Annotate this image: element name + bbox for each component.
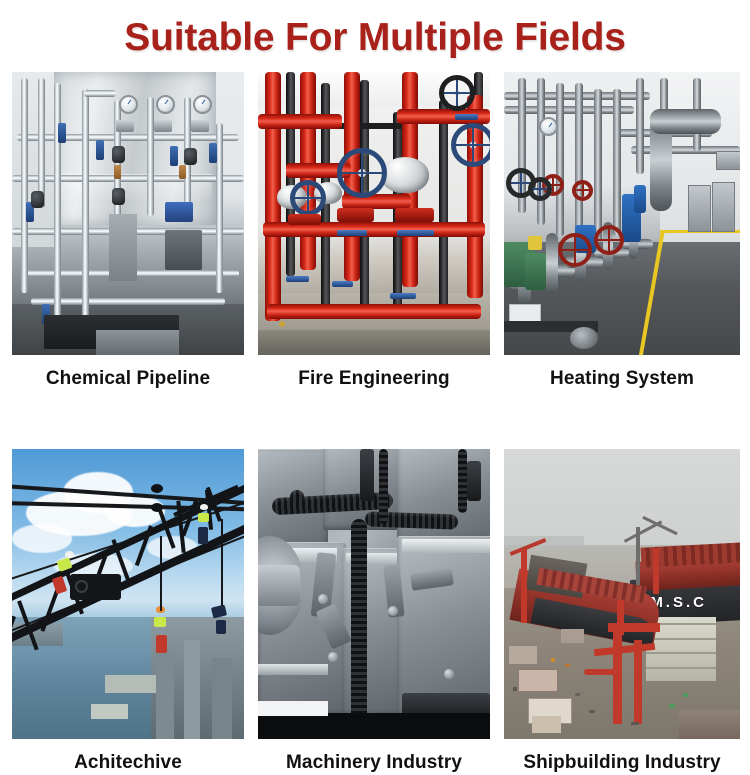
promo-banner: Suitable For Multiple Fields: [0, 0, 750, 750]
caption-shipbuilding-industry: Shipbuilding Industry: [504, 751, 740, 775]
caption-achitechive: Achitechive: [12, 751, 244, 775]
worker: [200, 504, 208, 510]
pressure-gauge-icon: [156, 95, 175, 114]
fire-engineering-illustration: [258, 72, 490, 355]
machinery-illustration: [258, 449, 490, 739]
shipbuilding-illustration: M.S.C: [504, 449, 740, 739]
valve-handwheel-icon: [594, 225, 624, 255]
bolt-icon: [388, 606, 398, 616]
image-achitechive: [12, 449, 244, 739]
page-title: Suitable For Multiple Fields: [0, 16, 750, 60]
gallery-item-fire-engineering[interactable]: Fire Engineering: [258, 72, 490, 391]
pressure-gauge-icon: [119, 95, 138, 114]
gallery-item-machinery-industry[interactable]: Machinery Industry: [258, 449, 490, 775]
caption-heating-system: Heating System: [504, 367, 740, 391]
worker: [65, 551, 74, 558]
chemical-pipeline-illustration: [12, 72, 244, 355]
image-machinery-industry: [258, 449, 490, 739]
caption-fire-engineering: Fire Engineering: [258, 367, 490, 391]
valve-handwheel-icon: [290, 180, 326, 216]
valve-handwheel-icon: [572, 180, 593, 201]
gallery-item-chemical-pipeline[interactable]: Chemical Pipeline: [12, 72, 244, 391]
image-shipbuilding-industry: M.S.C: [504, 449, 740, 739]
gallery-item-heating-system[interactable]: Heating System: [504, 72, 740, 391]
caption-machinery-industry: Machinery Industry: [258, 751, 490, 775]
heating-system-illustration: [504, 72, 740, 355]
bolt-icon: [328, 652, 338, 662]
valve-handwheel-icon: [528, 177, 552, 201]
valve-handwheel-icon: [451, 123, 490, 167]
caption-chemical-pipeline: Chemical Pipeline: [12, 367, 244, 391]
image-chemical-pipeline: [12, 72, 244, 355]
pressure-gauge-icon: [193, 95, 212, 114]
field-gallery-grid: Chemical Pipeline: [12, 72, 740, 775]
gallery-item-achitechive[interactable]: Achitechive: [12, 449, 244, 775]
gallery-item-shipbuilding-industry[interactable]: M.S.C: [504, 449, 740, 775]
image-fire-engineering: [258, 72, 490, 355]
valve-handwheel-icon: [439, 75, 475, 111]
image-heating-system: [504, 72, 740, 355]
ship-name-text: M.S.C: [650, 594, 707, 611]
architecture-illustration: [12, 449, 244, 739]
bolt-icon: [444, 669, 454, 679]
valve-handwheel-icon: [337, 148, 387, 198]
